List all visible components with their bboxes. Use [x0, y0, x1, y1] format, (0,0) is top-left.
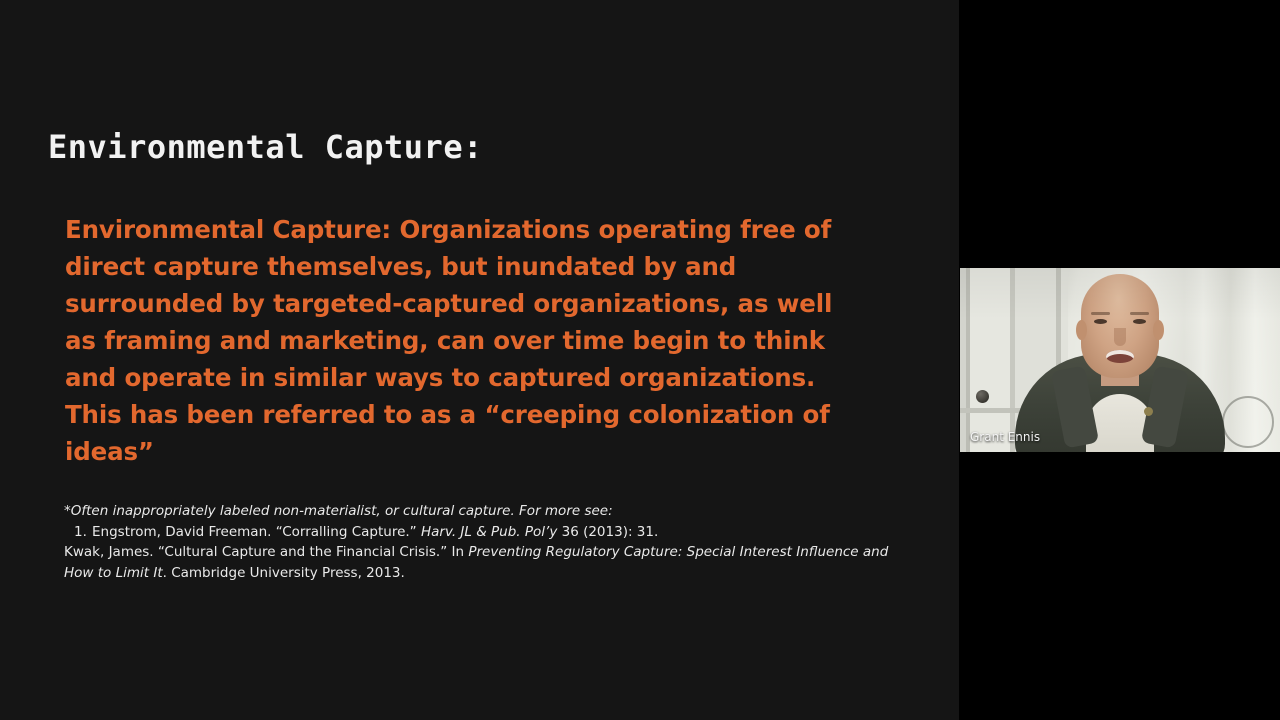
- footnote-plain-entry: Kwak, James. “Cultural Capture and the F…: [64, 542, 894, 583]
- video-feed-image: [960, 268, 1280, 452]
- slide-body-text: Environmental Capture: Organizations ope…: [65, 211, 865, 470]
- background-bicycle-wheel: [1222, 396, 1274, 448]
- participant-name-label: Grant Ennis: [968, 429, 1046, 446]
- footnote-item-text-part1: Engstrom, David Freeman. “Corralling Cap…: [92, 524, 421, 540]
- footnote-numbered-list: 1.Engstrom, David Freeman. “Corralling C…: [64, 522, 894, 543]
- video-call-screen-share: Environmental Capture: Environmental Cap…: [0, 0, 1280, 720]
- person-ear-left: [1076, 320, 1087, 340]
- participant-video-tile[interactable]: Grant Ennis: [960, 268, 1280, 452]
- footnote-plain-part1: Kwak, James. “Cultural Capture and the F…: [64, 544, 468, 560]
- footnote-item-text-part2: 36 (2013): 31.: [557, 524, 658, 540]
- footnote-item-journal: Harv. JL & Pub. Pol’y: [421, 524, 557, 540]
- footnote-plain-part2: . Cambridge University Press, 2013.: [163, 565, 405, 581]
- slide-footnotes: *Often inappropriately labeled non-mater…: [64, 501, 894, 583]
- participant-column: Grant Ennis: [959, 0, 1280, 720]
- person-eye-left: [1094, 319, 1107, 324]
- person-ear-right: [1153, 320, 1164, 340]
- footnote-list-item: 1.Engstrom, David Freeman. “Corralling C…: [64, 522, 894, 543]
- footnote-lead: *Often inappropriately labeled non-mater…: [64, 501, 894, 522]
- person-mouth: [1106, 350, 1134, 363]
- person-nose: [1114, 328, 1126, 346]
- person-brow-left: [1091, 312, 1110, 315]
- slide-title: Environmental Capture:: [48, 128, 483, 166]
- person-eye-right: [1133, 319, 1146, 324]
- footnote-item-number: 1.: [78, 522, 92, 543]
- shared-slide: Environmental Capture: Environmental Cap…: [0, 0, 959, 720]
- person-jacket-button: [1144, 407, 1153, 416]
- door-knob: [976, 390, 989, 403]
- person-brow-right: [1130, 312, 1149, 315]
